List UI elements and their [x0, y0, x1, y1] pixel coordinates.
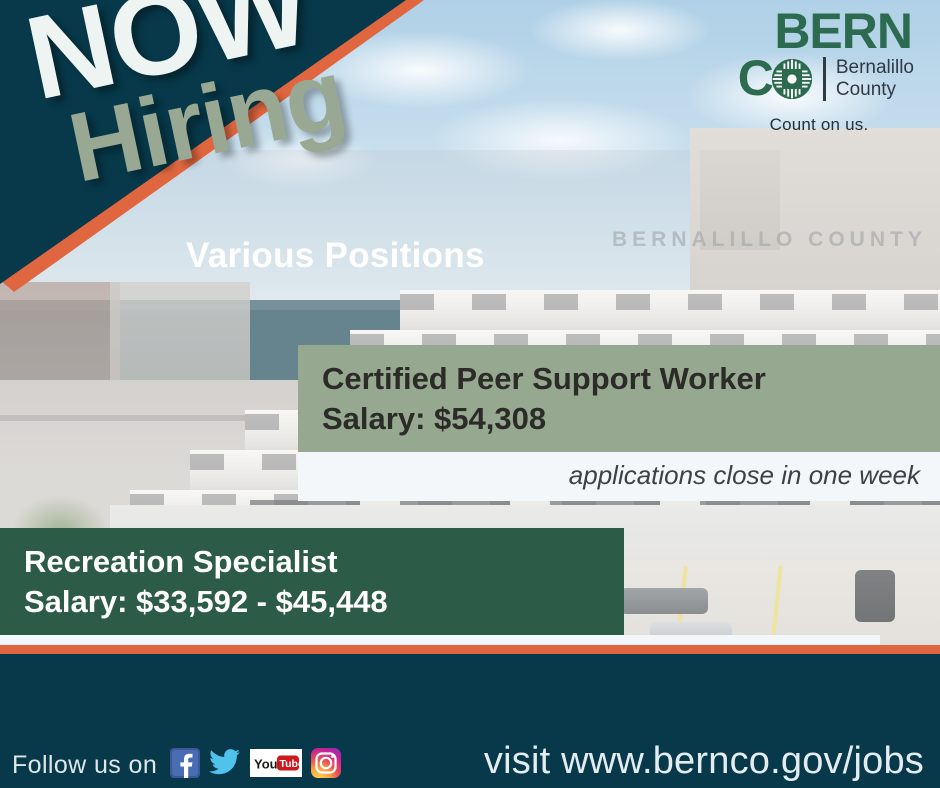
job-title: Recreation Specialist	[24, 542, 624, 582]
car-suv-black	[855, 570, 895, 622]
car-pickup	[620, 588, 708, 614]
twitter-icon[interactable]	[209, 748, 241, 783]
orange-divider-stripe	[0, 645, 940, 654]
job-card-body: Certified Peer Support Worker Salary: $5…	[298, 345, 940, 452]
job-title: Certified Peer Support Worker	[322, 359, 940, 399]
job-closing-note: applications close in one week	[569, 460, 920, 490]
now-hiring-poster: BERNALILLO COUNTY NOW Hiring Various Pos…	[0, 0, 940, 788]
zia-sun-icon	[771, 58, 813, 100]
logo-county-line-2: County	[836, 79, 914, 100]
visit-url[interactable]: visit www.bernco.gov/jobs	[484, 740, 924, 783]
follow-us-label: Follow us on	[12, 751, 157, 780]
logo-bern-text: BERN	[724, 8, 914, 54]
job-salary: Salary: $54,308	[322, 399, 940, 439]
svg-text:Tube: Tube	[280, 758, 303, 770]
logo-co-group: C	[738, 56, 813, 101]
logo-tagline: Count on us.	[724, 115, 914, 135]
subheadline-various-positions: Various Positions	[186, 236, 485, 276]
logo-second-row: C	[724, 56, 914, 101]
bernco-logo: BERN C	[724, 8, 914, 135]
building-signage: BERNALILLO COUNTY	[612, 228, 927, 252]
job-listing-card: Certified Peer Support Worker Salary: $5…	[298, 345, 940, 501]
follow-us-row: Follow us on You Tube	[12, 748, 341, 783]
neighbor-building-right	[690, 128, 940, 308]
instagram-icon[interactable]	[311, 748, 341, 783]
job-card-body: Recreation Specialist Salary: $33,592 - …	[0, 528, 624, 635]
youtube-icon[interactable]: You Tube	[250, 749, 302, 782]
job-note-bar: applications close in one week	[298, 452, 940, 501]
logo-county-line-1: Bernalillo	[836, 57, 914, 78]
logo-c-letter: C	[738, 56, 773, 101]
logo-divider	[823, 57, 826, 101]
job-salary: Salary: $33,592 - $45,448	[24, 582, 624, 622]
svg-text:You: You	[254, 757, 278, 772]
logo-county-name: Bernalillo County	[836, 57, 914, 100]
facebook-icon[interactable]	[170, 748, 200, 783]
